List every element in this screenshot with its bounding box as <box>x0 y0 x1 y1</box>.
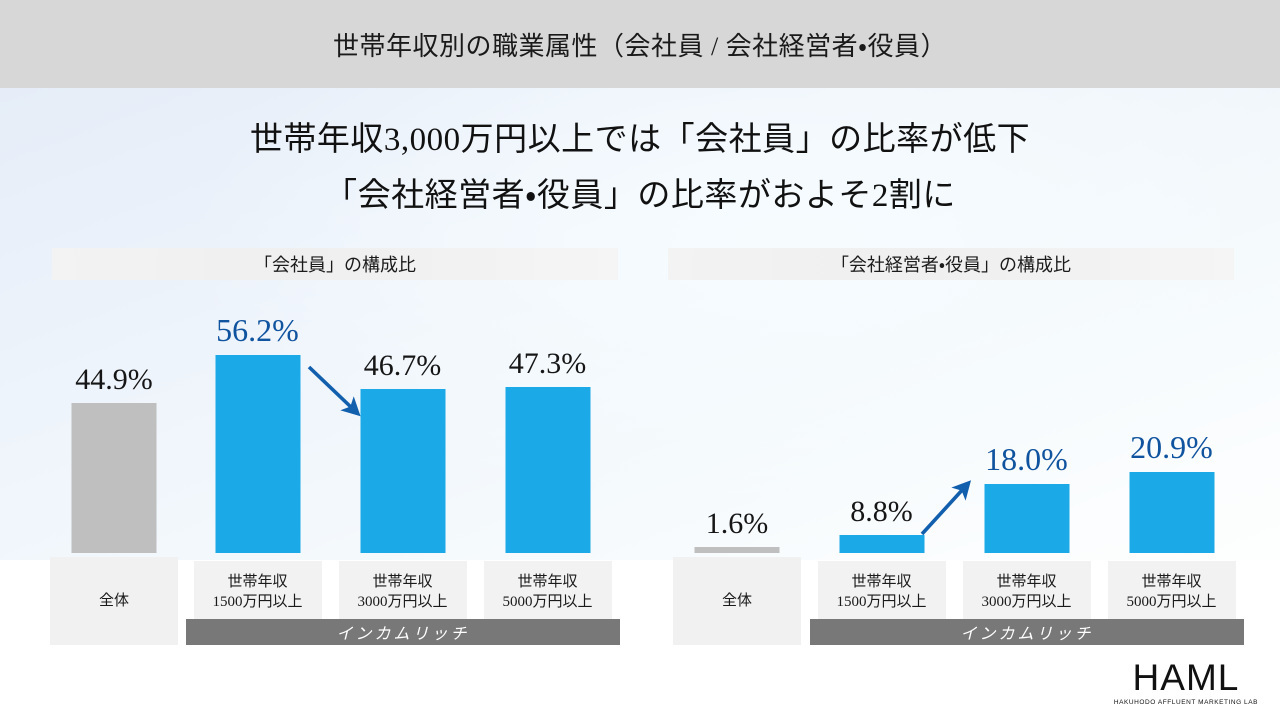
bar-1500 <box>215 355 300 553</box>
axis-label-1500-line2: 1500万円以上 <box>212 592 302 612</box>
group-band-incomerich-right: インカムリッチ <box>810 619 1244 645</box>
bar-value-3000: 46.7% <box>364 349 442 383</box>
haml-logo-subtitle: HAKUHODO AFFLUENT MARKETING LAB <box>1114 699 1258 706</box>
haml-logo-wordmark: HAML <box>1114 658 1258 698</box>
bar-value-total: 44.9% <box>75 363 153 397</box>
bar-column-5000: 47.3% 世帯年収 5000万円以上 <box>476 300 619 645</box>
axis-label-5000-line1: 世帯年収 <box>517 572 577 592</box>
panel-title-executive: 「会社経営者・役員」の構成比 <box>668 248 1234 280</box>
chart-employee: 44.9% 全体 56.2% 世帯年収 1500万円以上 46.7% 世帯年収 … <box>40 300 640 645</box>
axis-label-1500-line2: 1500万円以上 <box>836 592 926 612</box>
bar-total <box>695 547 780 553</box>
bar-3000 <box>360 389 445 553</box>
bar-3000 <box>984 484 1069 553</box>
headline-line-2: 「会社経営者・役員」の比率がおよそ2割に <box>0 168 1280 224</box>
axis-label-total: 全体 <box>50 557 178 645</box>
axis-label-5000: 世帯年収 5000万円以上 <box>1108 561 1236 623</box>
bar-column-total: 1.6% 全体 <box>667 300 807 645</box>
haml-logo: HAML HAKUHODO AFFLUENT MARKETING LAB <box>1114 658 1258 706</box>
axis-label-3000: 世帯年収 3000万円以上 <box>963 561 1091 623</box>
bar-column-1500: 8.8% 世帯年収 1500万円以上 <box>810 300 953 645</box>
axis-label-1500-line1: 世帯年収 <box>851 572 911 592</box>
axis-label-3000-line1: 世帯年収 <box>996 572 1056 592</box>
slide-root: 世帯年収別の職業属性（会社員 / 会社経営者・役員） 世帯年収3,000万円以上… <box>0 0 1280 714</box>
bar-5000 <box>1129 472 1214 553</box>
axis-label-5000: 世帯年収 5000万円以上 <box>484 561 612 623</box>
bar-5000 <box>505 387 590 553</box>
axis-label-3000: 世帯年収 3000万円以上 <box>339 561 467 623</box>
bar-value-1500: 8.8% <box>850 495 913 529</box>
axis-label-1500-line1: 世帯年収 <box>227 572 287 592</box>
bar-column-3000: 46.7% 世帯年収 3000万円以上 <box>331 300 474 645</box>
bar-value-5000: 47.3% <box>509 347 587 381</box>
bar-total <box>72 403 157 553</box>
bar-column-3000: 18.0% 世帯年収 3000万円以上 <box>955 300 1098 645</box>
headline-line-1: 世帯年収3,000万円以上では「会社員」の比率が低下 <box>0 112 1280 168</box>
bar-value-5000: 20.9% <box>1130 429 1213 466</box>
bar-column-1500: 56.2% 世帯年収 1500万円以上 <box>186 300 329 645</box>
bar-1500 <box>839 535 924 553</box>
axis-label-1500: 世帯年収 1500万円以上 <box>818 561 946 623</box>
group-band-incomerich-left: インカムリッチ <box>186 619 620 645</box>
axis-label-total-text: 全体 <box>99 591 129 611</box>
headline: 世帯年収3,000万円以上では「会社員」の比率が低下 「会社経営者・役員」の比率… <box>0 112 1280 224</box>
axis-label-3000-line1: 世帯年収 <box>372 572 432 592</box>
bar-column-total: 44.9% 全体 <box>44 300 184 645</box>
bar-value-1500: 56.2% <box>216 312 299 349</box>
axis-label-3000-line2: 3000万円以上 <box>357 592 447 612</box>
axis-label-1500: 世帯年収 1500万円以上 <box>194 561 322 623</box>
panel-title-employee: 「会社員」の構成比 <box>52 248 618 280</box>
axis-label-5000-line2: 5000万円以上 <box>502 592 592 612</box>
axis-label-3000-line2: 3000万円以上 <box>981 592 1071 612</box>
axis-label-5000-line1: 世帯年収 <box>1141 572 1201 592</box>
axis-label-5000-line2: 5000万円以上 <box>1126 592 1216 612</box>
bar-value-total: 1.6% <box>706 507 769 541</box>
bar-value-3000: 18.0% <box>985 441 1068 478</box>
bar-column-5000: 20.9% 世帯年収 5000万円以上 <box>1100 300 1243 645</box>
axis-label-total: 全体 <box>673 557 801 645</box>
axis-label-total-text: 全体 <box>722 591 752 611</box>
page-title: 世帯年収別の職業属性（会社員 / 会社経営者・役員） <box>0 0 1280 88</box>
chart-executive: 1.6% 全体 8.8% 世帯年収 1500万円以上 18.0% 世帯年収 30… <box>665 300 1250 645</box>
